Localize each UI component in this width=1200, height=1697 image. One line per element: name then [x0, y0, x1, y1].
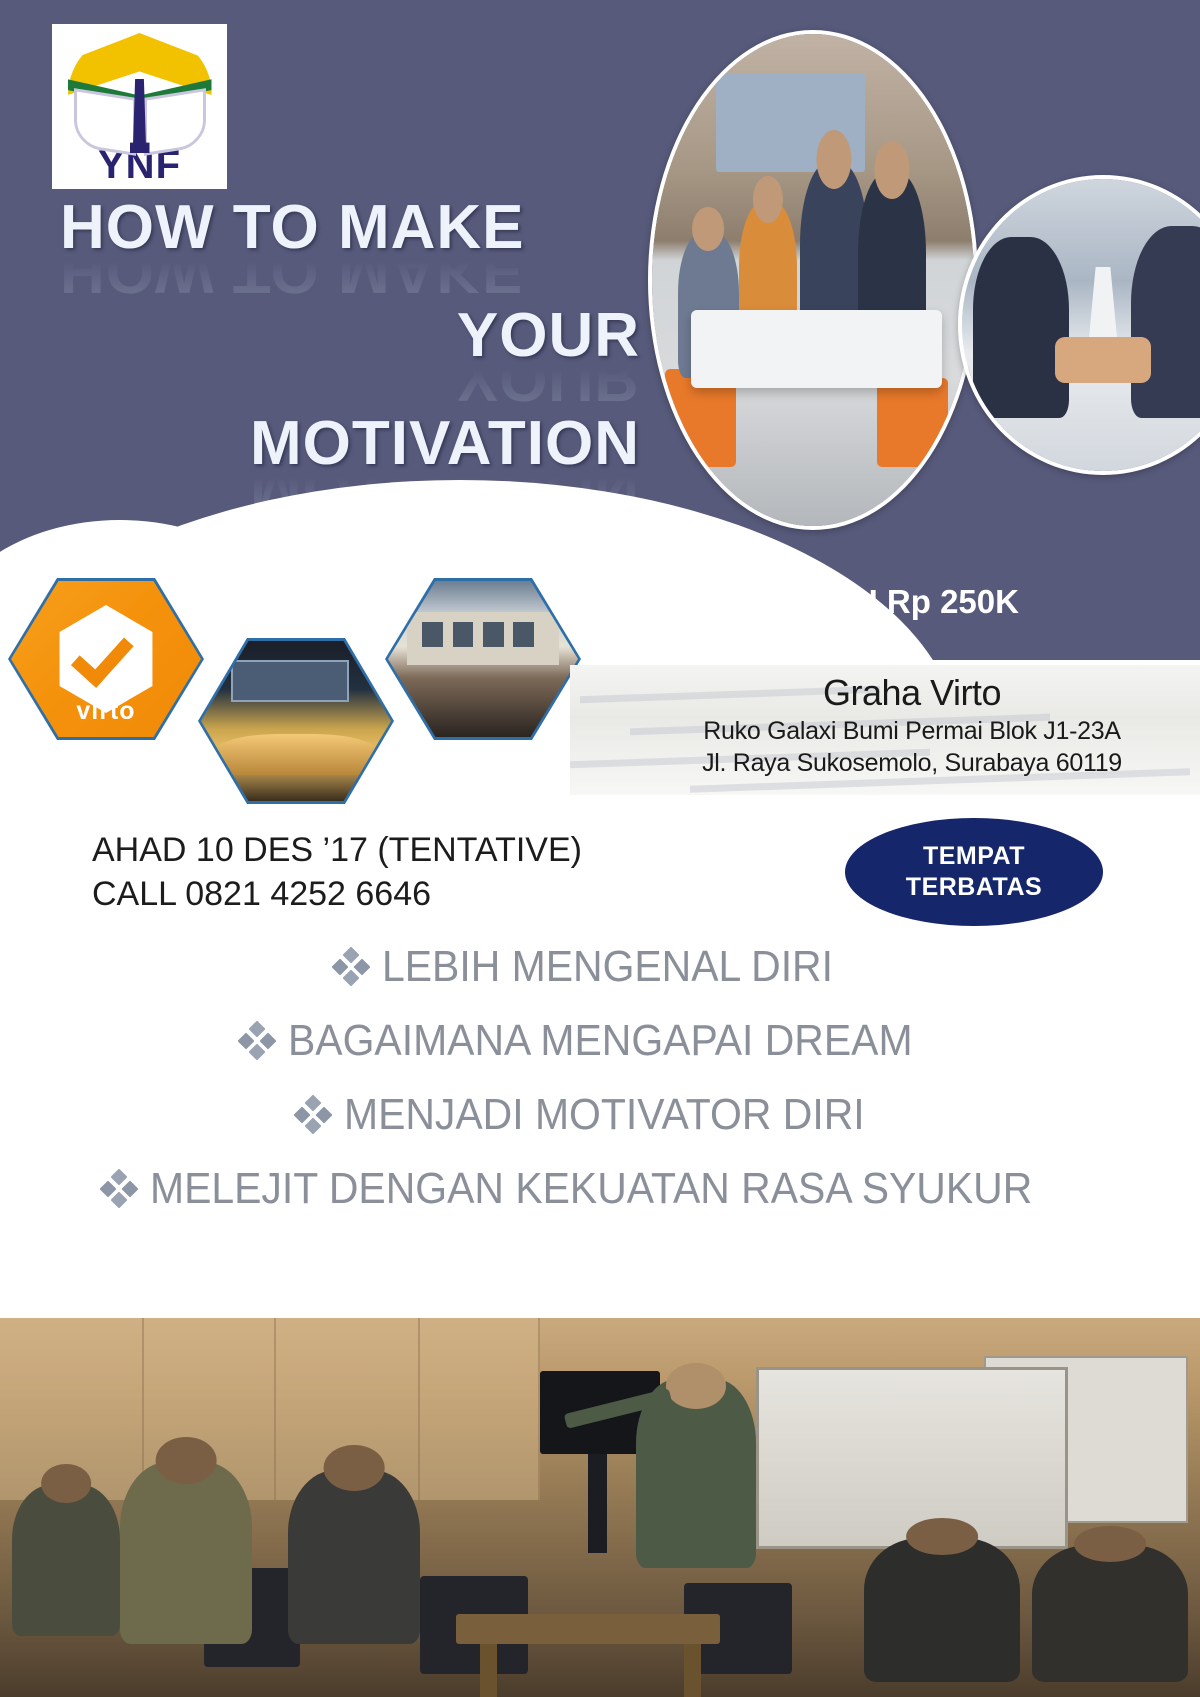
meeting-photo-oval — [648, 30, 978, 530]
photo-person — [973, 237, 1069, 418]
list-item: BAGAIMANA MENGAPAI DREAM — [0, 1004, 1200, 1078]
list-item: MENJADI MOTIVATOR DIRI — [0, 1078, 1200, 1152]
title-line-1-reflection: HOW TO MAKE — [60, 238, 640, 302]
venue-address-line-2: Jl. Raya Sukosemolo, Surabaya 60119 — [632, 747, 1192, 779]
price-label: INVESTASI Rp 250K — [706, 583, 1019, 621]
benefit-text: MENJADI MOTIVATOR DIRI — [344, 1090, 865, 1140]
photo-attendee — [12, 1485, 120, 1637]
photo-attendee — [1032, 1545, 1188, 1681]
photo-attendee — [288, 1470, 420, 1644]
photo-handshake — [1055, 337, 1151, 384]
benefit-text: BAGAIMANA MENGAPAI DREAM — [288, 1016, 913, 1066]
photo-attendee — [864, 1538, 1020, 1682]
venue-name: Graha Virto — [632, 671, 1192, 715]
handshake-photo-oval — [958, 175, 1200, 475]
photo-table — [691, 310, 942, 389]
ynf-logo: YNF — [52, 24, 227, 189]
benefit-text: MELEJIT DENGAN KEKUATAN RASA SYUKUR — [150, 1164, 1032, 1214]
badge-line-1: TEMPAT — [923, 841, 1025, 872]
event-date: AHAD 10 DES ’17 (TENTATIVE) — [92, 828, 582, 872]
schedule-block: AHAD 10 DES ’17 (TENTATIVE) CALL 0821 42… — [92, 828, 582, 916]
list-item: MELEJIT DENGAN KEKUATAN RASA SYUKUR — [0, 1152, 1200, 1226]
seminar-photo — [0, 1318, 1200, 1697]
photo-table — [456, 1614, 720, 1644]
list-item: LEBIH MENGENAL DIRI — [0, 930, 1200, 1004]
diamond-bullet-icon — [334, 949, 368, 985]
diamond-bullet-icon — [296, 1097, 330, 1133]
handshake-photo — [962, 179, 1200, 471]
venue-card: Graha Virto Ruko Galaxi Bumi Permai Blok… — [570, 665, 1200, 795]
diamond-bullet-icon — [102, 1171, 136, 1207]
open-book-arch-emblem-icon — [60, 31, 220, 144]
virto-wordmark: virto — [76, 697, 135, 726]
poster-header: YNF HOW TO MAKE HOW TO MAKE YOUR YOUR MO… — [0, 0, 1200, 660]
title-line-2-reflection: YOUR — [60, 346, 640, 410]
badge-line-2: TERBATAS — [906, 872, 1042, 903]
contact-phone[interactable]: CALL 0821 4252 6646 — [92, 872, 582, 916]
photo-attendee — [120, 1462, 252, 1644]
photo-chair — [877, 378, 948, 467]
meeting-photo — [652, 34, 974, 526]
diamond-bullet-icon — [240, 1023, 274, 1059]
poster-root: YNF HOW TO MAKE HOW TO MAKE YOUR YOUR MO… — [0, 0, 1200, 1697]
benefit-text: LEBIH MENGENAL DIRI — [382, 942, 833, 992]
benefits-list: LEBIH MENGENAL DIRI BAGAIMANA MENGAPAI D… — [0, 930, 1200, 1226]
venue-address-line-1: Ruko Galaxi Bumi Permai Blok J1-23A — [632, 715, 1192, 747]
seminar-room-hexagon — [201, 641, 391, 801]
photo-whiteboard — [756, 1367, 1068, 1549]
status-badge: TEMPAT TERBATAS — [845, 818, 1103, 926]
photo-person — [1131, 226, 1200, 419]
